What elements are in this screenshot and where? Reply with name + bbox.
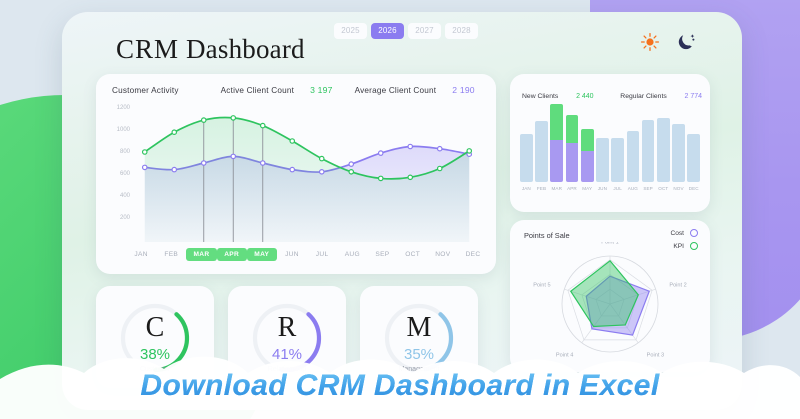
data-point	[143, 165, 147, 169]
radar-axis-label: Point 2	[669, 283, 686, 289]
bar-month-label: SEP	[642, 186, 655, 191]
month-label[interactable]: AUG	[337, 248, 367, 261]
month-label[interactable]: FEB	[156, 248, 186, 261]
clients-bar-header: New Clients 2 440 Regular Clients 2 774	[522, 85, 702, 103]
customer-activity-title: Customer Activity	[112, 86, 179, 95]
moon-icon[interactable]	[676, 32, 696, 52]
points-of-sale-title: Points of Sale	[524, 231, 570, 240]
data-point	[438, 166, 442, 170]
data-point	[290, 167, 294, 171]
radar-axis-label: Point 5	[533, 283, 550, 289]
year-tabs: 2025 2026 2027 2028	[334, 23, 478, 39]
data-point	[261, 123, 265, 127]
clients-bar-chart	[520, 104, 700, 182]
bar-month-label: MAY	[581, 186, 594, 191]
month-label[interactable]: NOV	[428, 248, 458, 261]
bar-segment-plain	[657, 118, 670, 182]
year-tab-2025[interactable]: 2025	[334, 23, 367, 39]
bar-month-label: APR	[566, 186, 579, 191]
bar-month-label: JUL	[611, 186, 624, 191]
data-point	[320, 156, 324, 160]
bar-segment-plain	[627, 131, 640, 182]
legend-label-cost: Cost	[670, 230, 684, 237]
data-point	[202, 118, 206, 122]
month-label[interactable]: JUN	[277, 248, 307, 261]
line-chart-plot	[104, 102, 488, 242]
month-label[interactable]: APR	[217, 248, 247, 261]
header: CRM Dashboard 2025 2026 2027 2028	[62, 12, 742, 74]
data-point	[172, 130, 176, 134]
data-point	[231, 154, 235, 158]
customer-activity-card: Customer Activity Active Client Count 3 …	[96, 74, 496, 274]
active-client-count-value: 3 197	[310, 85, 333, 95]
data-point	[290, 139, 294, 143]
bar-segment-plain	[687, 134, 700, 182]
banner-text: Download CRM Dashboard in Excel	[0, 369, 800, 403]
average-client-count-value: 2 190	[452, 85, 475, 95]
line-area	[145, 118, 470, 242]
month-label[interactable]: DEC	[458, 248, 488, 261]
radar-series	[571, 261, 639, 327]
bar-month-label: FEB	[535, 186, 548, 191]
regular-clients-value: 2 774	[685, 93, 703, 100]
bar-month-label: AUG	[627, 186, 640, 191]
active-client-count-label: Active Client Count	[221, 86, 294, 95]
year-tab-2028[interactable]: 2028	[445, 23, 478, 39]
bar-segment-regular	[581, 151, 594, 182]
bar-segment-new	[566, 115, 579, 143]
data-point	[172, 167, 176, 171]
data-point	[202, 161, 206, 165]
month-label[interactable]: MAR	[186, 248, 216, 261]
year-tab-2027[interactable]: 2027	[408, 23, 441, 39]
data-point	[320, 170, 324, 174]
average-client-count-label: Average Client Count	[355, 86, 437, 95]
customer-activity-header: Customer Activity Active Client Count 3 …	[112, 85, 486, 95]
theme-toggle	[640, 32, 696, 52]
sun-icon[interactable]	[640, 32, 660, 52]
data-point	[231, 116, 235, 120]
gauge-letter-customer: C	[96, 312, 214, 344]
bar-month-label: OCT	[657, 186, 670, 191]
line-chart-month-row: JANFEBMARAPRMAYJUNJULAUGSEPOCTNOVDEC	[126, 248, 488, 261]
bar-month-label: DEC	[687, 186, 700, 191]
gauge-letter-management: M	[360, 312, 478, 344]
bar-column[interactable]	[657, 104, 670, 182]
bar-column[interactable]	[535, 104, 548, 182]
bar-column[interactable]	[611, 104, 624, 182]
clients-bar-card: New Clients 2 440 Regular Clients 2 774 …	[510, 74, 710, 212]
month-label[interactable]: JUL	[307, 248, 337, 261]
bar-month-label: JAN	[520, 186, 533, 191]
bar-segment-regular	[550, 140, 563, 182]
bar-segment-plain	[535, 121, 548, 182]
data-point	[379, 176, 383, 180]
bar-segment-new	[581, 129, 594, 151]
bar-column[interactable]	[627, 104, 640, 182]
month-label[interactable]: OCT	[398, 248, 428, 261]
bar-column[interactable]	[566, 104, 579, 182]
month-label[interactable]: JAN	[126, 248, 156, 261]
data-point	[349, 162, 353, 166]
radar-axis-label: Point 1	[601, 242, 618, 246]
data-point	[143, 150, 147, 154]
data-point	[261, 161, 265, 165]
bar-segment-plain	[642, 120, 655, 182]
page-title-crm: CRM	[116, 34, 179, 64]
month-label[interactable]: SEP	[367, 248, 397, 261]
data-point	[467, 149, 471, 153]
page-title: CRM Dashboard	[116, 34, 305, 65]
bar-column[interactable]	[642, 104, 655, 182]
month-label[interactable]: MAY	[247, 248, 277, 261]
page-title-dashboard: Dashboard	[186, 34, 305, 64]
data-point	[379, 151, 383, 155]
bar-column[interactable]	[596, 104, 609, 182]
new-clients-label: New Clients	[522, 93, 558, 100]
bar-month-label: NOV	[672, 186, 685, 191]
bar-month-label: MAR	[550, 186, 563, 191]
year-tab-2026[interactable]: 2026	[371, 23, 404, 39]
bar-column[interactable]	[672, 104, 685, 182]
data-point	[349, 170, 353, 174]
bar-segment-plain	[520, 134, 533, 182]
dashboard-root: CRM Dashboard 2025 2026 2027 2028	[0, 0, 800, 419]
bar-column[interactable]	[687, 104, 700, 182]
legend-dot-cost-icon	[690, 229, 698, 237]
gauge-letter-relationship: R	[228, 312, 346, 344]
legend-item-cost[interactable]: Cost	[670, 229, 698, 237]
bar-segment-new	[550, 104, 563, 140]
data-point	[408, 144, 412, 148]
bar-column[interactable]	[520, 104, 533, 182]
data-point	[408, 175, 412, 179]
data-point	[438, 147, 442, 151]
new-clients-value: 2 440	[576, 93, 594, 100]
bar-column[interactable]	[550, 104, 563, 182]
bar-segment-plain	[596, 138, 609, 182]
bar-segment-plain	[611, 138, 624, 182]
clients-bar-month-labels: JANFEBMARAPRMAYJUNJULAUGSEPOCTNOVDEC	[520, 186, 700, 191]
bar-segment-regular	[566, 143, 579, 182]
bar-segment-plain	[672, 124, 685, 182]
bar-column[interactable]	[581, 104, 594, 182]
bar-month-label: JUN	[596, 186, 609, 191]
regular-clients-label: Regular Clients	[620, 93, 666, 100]
